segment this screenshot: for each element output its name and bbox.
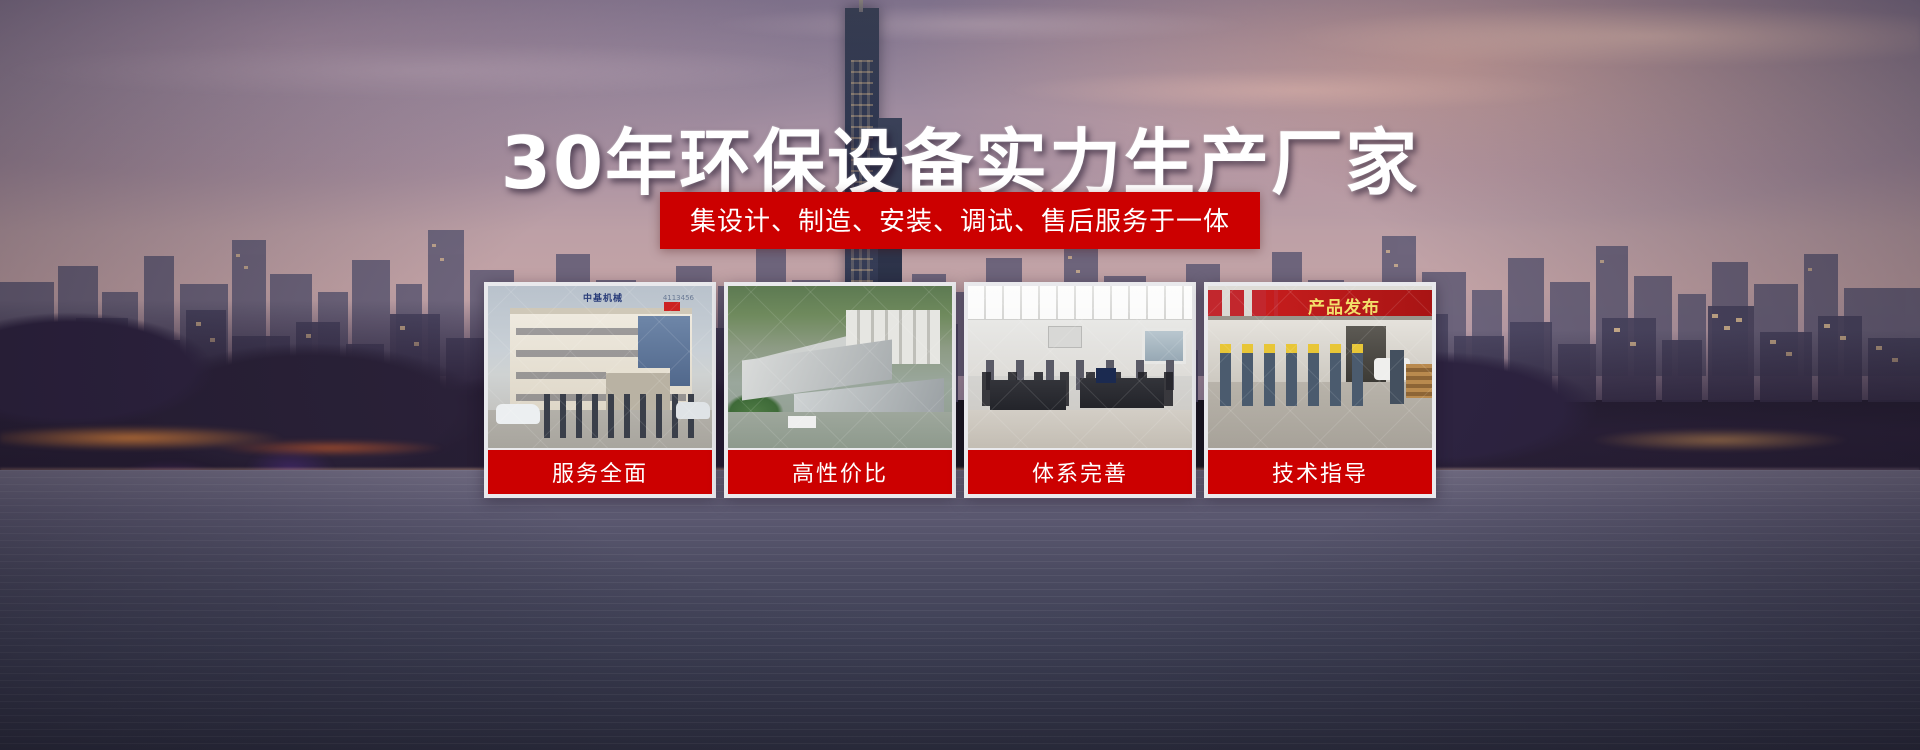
feature-card[interactable]: 高性价比 <box>724 282 956 498</box>
factory-workers-hardhats-photo: 产品发布 <box>1208 286 1432 448</box>
feature-card[interactable]: 体系完善 <box>964 282 1196 498</box>
banner-content: 30年环保设备实力生产厂家 集设计、制造、安装、调试、售后服务于一体 中基机械 … <box>0 0 1920 750</box>
feature-card-label: 体系完善 <box>968 450 1192 494</box>
banner-subtitle-bar: 集设计、制造、安装、调试、售后服务于一体 <box>660 192 1260 249</box>
feature-card-label: 服务全面 <box>488 450 712 494</box>
factory-banner-text: 产品发布 <box>1308 292 1428 318</box>
building-sign-text: 中基机械 <box>560 292 646 303</box>
banner-subtitle-text: 集设计、制造、安装、调试、售后服务于一体 <box>690 201 1230 238</box>
aerial-production-plant-photo <box>728 286 952 448</box>
feature-card-label: 技术指导 <box>1208 450 1432 494</box>
company-office-building-photo: 中基机械 4113456 <box>488 286 712 448</box>
feature-card[interactable]: 产品发布 技术指导 <box>1204 282 1436 498</box>
office-interior-team-photo <box>968 286 1192 448</box>
feature-card-label: 高性价比 <box>728 450 952 494</box>
feature-card[interactable]: 中基机械 4113456 服务全面 <box>484 282 716 498</box>
building-photo-code: 4113456 <box>663 294 694 302</box>
feature-card-list: 中基机械 4113456 服务全面 <box>484 282 1436 498</box>
hero-banner: 30年环保设备实力生产厂家 集设计、制造、安装、调试、售后服务于一体 中基机械 … <box>0 0 1920 750</box>
